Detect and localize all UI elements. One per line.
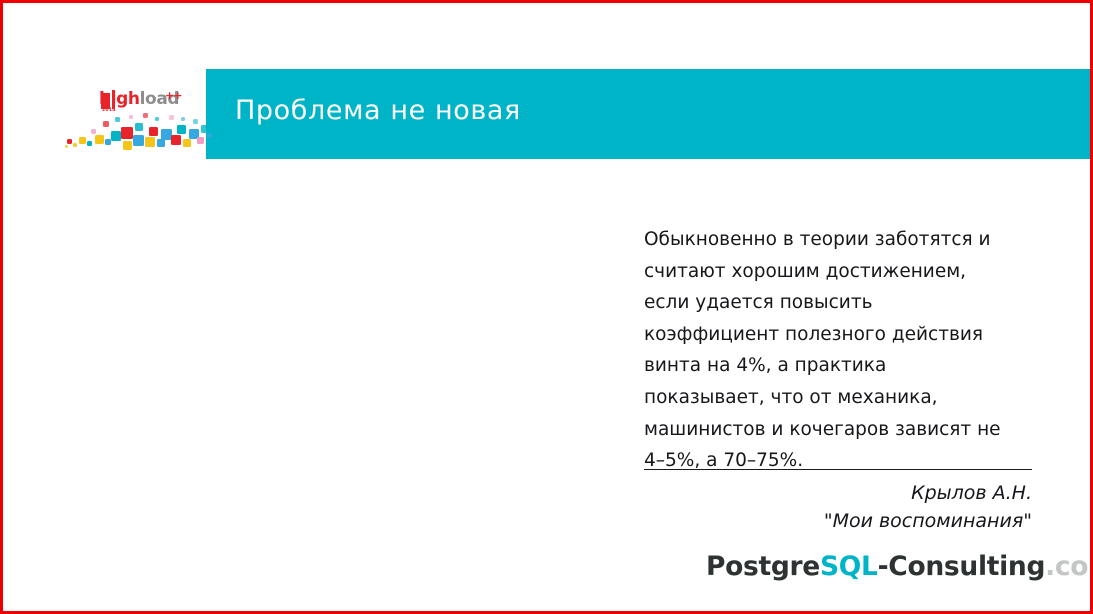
puzzle-piece	[149, 127, 158, 136]
puzzle-piece	[181, 117, 185, 121]
puzzle-piece	[143, 113, 148, 118]
puzzle-piece	[171, 135, 181, 145]
logo-part-sql: SQL	[820, 551, 878, 582]
puzzle-piece	[177, 125, 186, 134]
presentation-slide: Проблема не новая 2014 highload ++ Обыкн…	[0, 0, 1093, 614]
logo-part-tld: .com	[1045, 551, 1093, 582]
puzzle-piece	[193, 119, 198, 124]
highload-word-high: high	[99, 89, 140, 109]
puzzle-piece	[183, 139, 191, 147]
puzzle-piece	[73, 143, 77, 147]
page-title: Проблема не новая	[235, 95, 521, 126]
puzzle-piece	[145, 137, 155, 147]
postgresql-consulting-logo: PostgreSQL-Consulting.com	[706, 551, 1093, 582]
puzzle-piece	[103, 121, 109, 127]
quote-attribution: Крылов А.Н. "Мои воспоминания"	[644, 479, 1032, 535]
quote-separator	[644, 469, 1032, 470]
puzzle-piece	[135, 123, 143, 131]
puzzle-piece	[79, 137, 86, 144]
puzzle-decoration	[65, 113, 213, 159]
puzzle-piece	[129, 115, 133, 119]
puzzle-piece	[133, 135, 144, 146]
puzzle-piece	[87, 141, 92, 146]
quote-text: Обыкновенно в теории заботятся и считают…	[644, 224, 1044, 477]
puzzle-piece	[157, 139, 165, 147]
quote-source: "Мои воспоминания"	[644, 507, 1032, 535]
puzzle-piece	[95, 135, 104, 144]
puzzle-piece	[115, 117, 120, 122]
puzzle-piece	[123, 141, 132, 150]
logo-part-postgre: Postgre	[706, 551, 820, 582]
puzzle-piece	[65, 145, 68, 148]
puzzle-piece	[207, 133, 212, 138]
quote-author: Крылов А.Н.	[644, 479, 1032, 507]
puzzle-piece	[169, 115, 174, 120]
puzzle-piece	[67, 139, 72, 144]
puzzle-piece	[155, 117, 159, 121]
puzzle-piece	[197, 137, 204, 144]
puzzle-piece	[121, 127, 133, 139]
puzzle-piece	[201, 125, 209, 133]
logo-part-consulting: -Consulting	[878, 551, 1046, 582]
puzzle-piece	[91, 129, 96, 134]
highload-logo: 2014 highload ++	[65, 87, 213, 159]
highload-superscript: ++	[165, 89, 181, 102]
title-band: Проблема не новая	[206, 69, 1091, 159]
puzzle-piece	[111, 131, 121, 141]
